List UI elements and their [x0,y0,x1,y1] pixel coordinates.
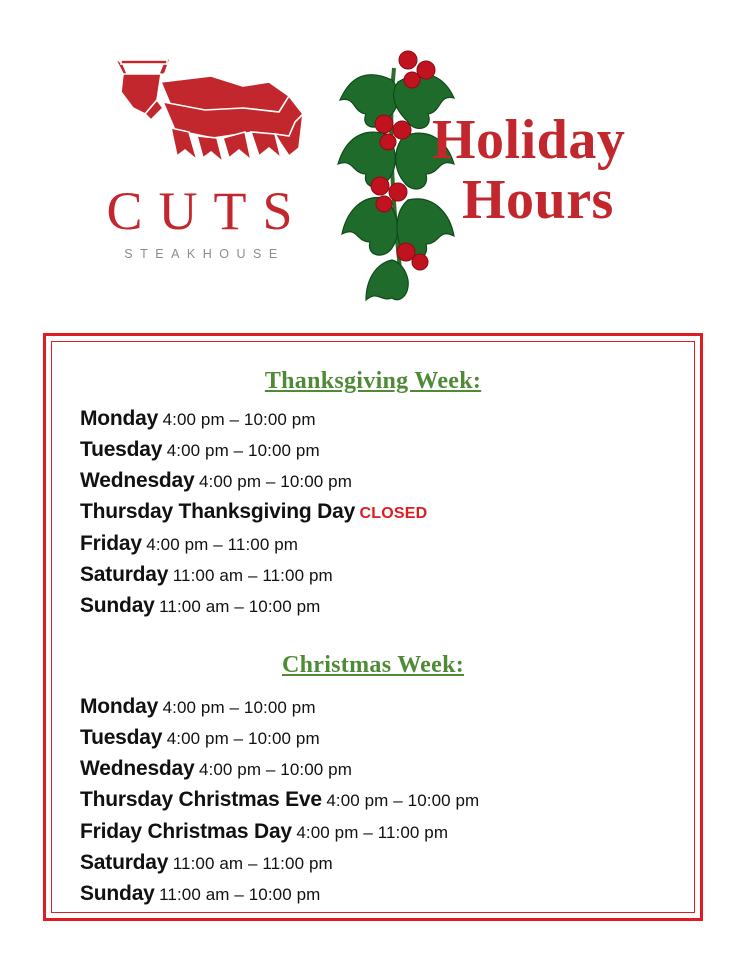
time-value: 4:00 pm – 10:00 pm [167,729,320,748]
time-value: 4:00 pm – 10:00 pm [163,698,316,717]
hours-row: Sunday 11:00 am – 10:00 pm [80,594,666,618]
hours-row: Monday 4:00 pm – 10:00 pm [80,695,666,719]
brand-name: CUTS [92,184,323,238]
hours-row: Monday 4:00 pm – 10:00 pm [80,407,666,431]
hours-row: Tuesday 4:00 pm – 10:00 pm [80,726,666,750]
day-label: Friday Christmas Day [80,820,292,843]
time-value: 11:00 am – 11:00 pm [173,854,333,873]
day-label: Monday [80,695,158,718]
time-value: 4:00 pm – 10:00 pm [163,410,316,429]
page-title: Holiday Hours [432,110,625,231]
day-label: Monday [80,407,158,430]
page-title-line1: Holiday [432,109,625,171]
day-label: Tuesday [80,438,162,461]
time-value: 11:00 am – 10:00 pm [159,885,320,904]
hours-row: Tuesday 4:00 pm – 10:00 pm [80,438,666,462]
time-value: 11:00 am – 11:00 pm [173,566,333,585]
time-value: 4:00 pm – 11:00 pm [296,823,448,842]
day-label: Sunday [80,594,155,617]
hours-row: Wednesday 4:00 pm – 10:00 pm [80,469,666,493]
flyer-header: CUTS STEAKHOUSE [0,0,746,310]
holiday-hours-flyer: CUTS STEAKHOUSE [0,0,746,960]
hours-row: Wednesday 4:00 pm – 10:00 pm [80,757,666,781]
section-title-thanksgiving: Thanksgiving Week: [80,368,666,395]
brand-subtitle: STEAKHOUSE [86,247,323,261]
time-value: 4:00 pm – 10:00 pm [326,791,479,810]
time-value: 4:00 pm – 11:00 pm [146,535,298,554]
time-value: 11:00 am – 10:00 pm [159,597,320,616]
status-badge: CLOSED [360,505,428,522]
time-value: 4:00 pm – 10:00 pm [167,441,320,460]
hours-row: Sunday 11:00 am – 10:00 pm [80,882,666,906]
hours-row: Thursday Christmas Eve 4:00 pm – 10:00 p… [80,788,666,812]
day-label: Saturday [80,851,168,874]
page-title-line2: Hours [462,170,625,230]
day-label: Tuesday [80,726,162,749]
hours-panel: Thanksgiving Week: Monday 4:00 pm – 10:0… [43,333,703,921]
brand-logo: CUTS STEAKHOUSE [78,52,323,261]
section-title-christmas: Christmas Week: [80,652,666,679]
hours-row: Thursday Thanksgiving Day CLOSED [80,500,666,524]
day-label: Thursday Christmas Eve [80,788,322,811]
time-value: 4:00 pm – 10:00 pm [199,760,352,779]
hours-row: Friday 4:00 pm – 11:00 pm [80,532,666,556]
hours-row: Saturday 11:00 am – 11:00 pm [80,851,666,875]
day-label: Thursday Thanksgiving Day [80,500,355,523]
hours-panel-inner: Thanksgiving Week: Monday 4:00 pm – 10:0… [51,341,695,913]
day-label: Sunday [80,882,155,905]
day-label: Wednesday [80,469,195,492]
hours-row: Saturday 11:00 am – 11:00 pm [80,563,666,587]
time-value: 4:00 pm – 10:00 pm [199,472,352,491]
hours-row: Friday Christmas Day 4:00 pm – 11:00 pm [80,820,666,844]
day-label: Wednesday [80,757,195,780]
bull-logo-icon [93,52,308,182]
day-label: Friday [80,532,142,555]
day-label: Saturday [80,563,168,586]
